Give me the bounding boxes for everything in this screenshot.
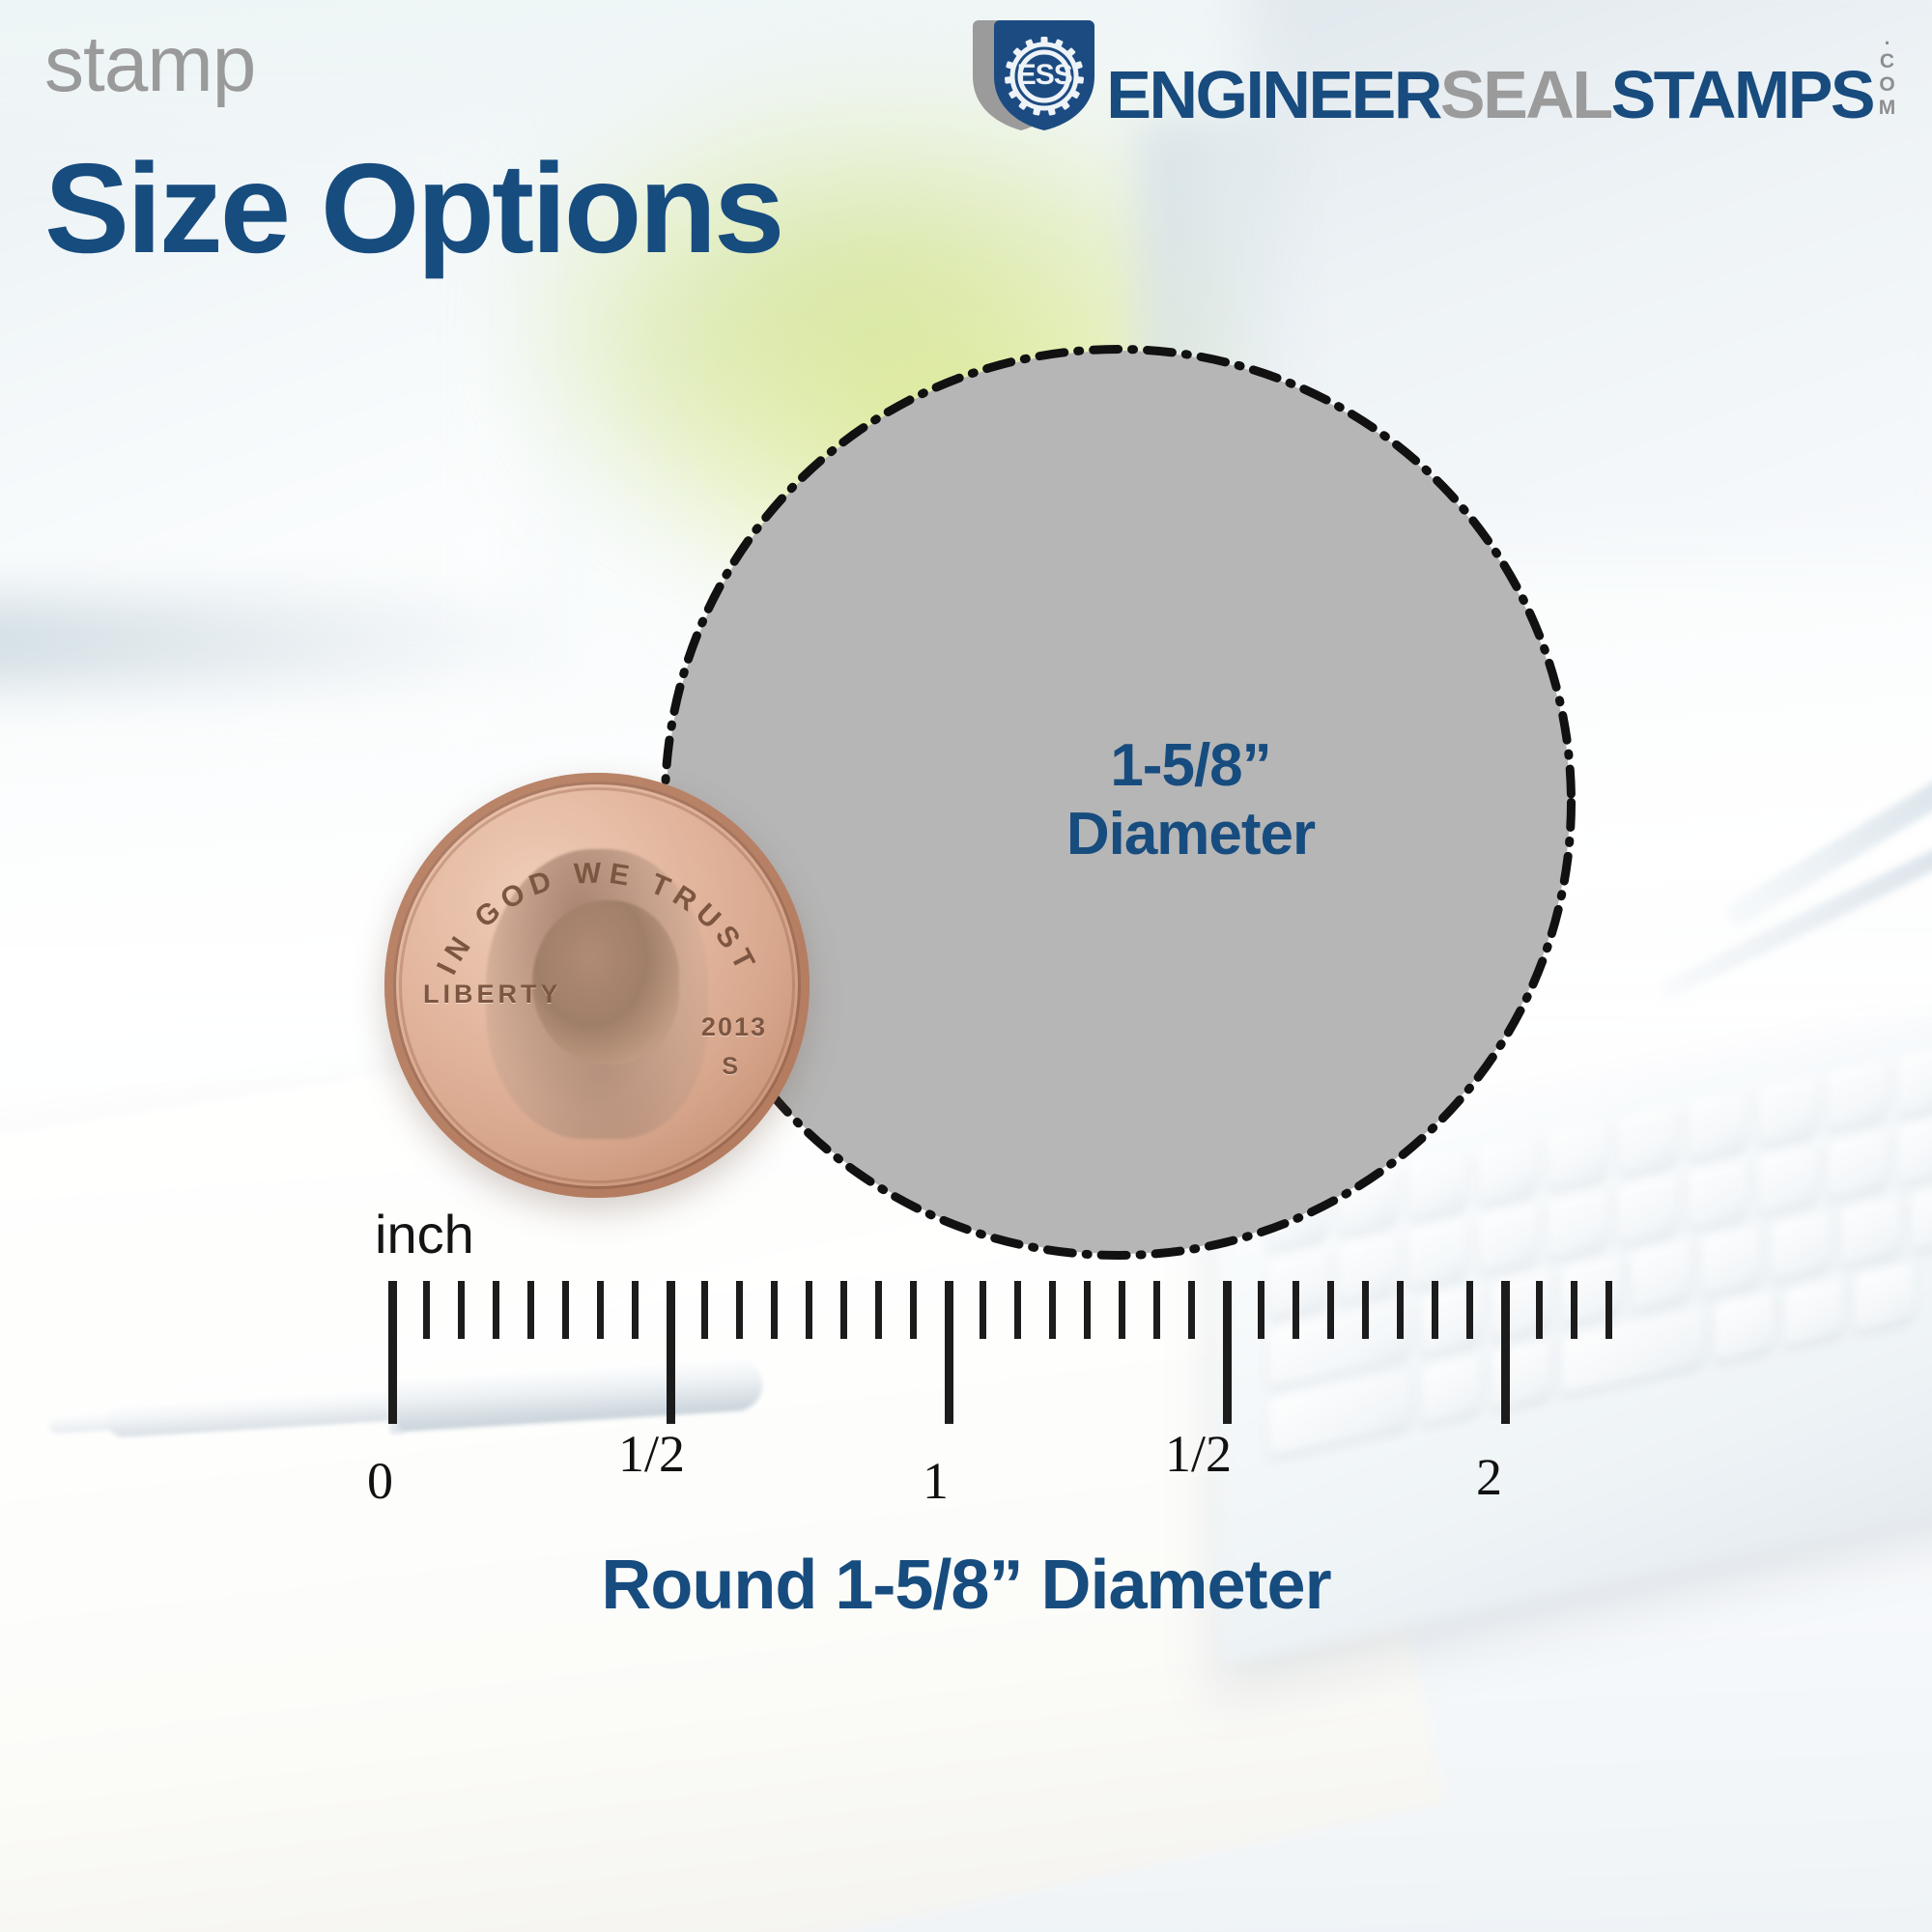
logo-word-seal: SEAL <box>1440 66 1611 124</box>
ruler-tick-minor <box>806 1281 812 1339</box>
ruler-tick-minor <box>1119 1281 1125 1339</box>
ruler-label-1: 1 <box>923 1451 949 1511</box>
ruler-tick-minor <box>527 1281 534 1339</box>
inch-ruler: 0 1/2 1 1/2 2 <box>0 1281 1932 1532</box>
ruler-tick-minor <box>1605 1281 1612 1339</box>
svg-text:IN GOD WE TRUST: IN GOD WE TRUST <box>431 857 763 980</box>
ruler-tick-minor <box>458 1281 465 1339</box>
ruler-tick-minor <box>493 1281 499 1339</box>
background-stylus-pen <box>1722 699 1932 930</box>
ruler-tick-minor <box>1188 1281 1195 1339</box>
ruler-tick-minor <box>875 1281 882 1339</box>
ruler-tick-major-1half <box>1223 1281 1232 1424</box>
ruler-tick-minor <box>701 1281 708 1339</box>
logo-badge-text: ESS <box>1013 59 1075 92</box>
ruler-unit-label: inch <box>375 1203 474 1265</box>
ruler-tick-minor <box>980 1281 986 1339</box>
header-eyebrow: stamp <box>44 25 255 104</box>
background-window-sill <box>0 599 560 686</box>
ruler-tick-major-half <box>667 1281 675 1424</box>
ruler-tick-minor <box>1049 1281 1056 1339</box>
ruler-label-1half: 1/2 <box>1165 1424 1232 1484</box>
ruler-tick-minor <box>1014 1281 1021 1339</box>
ruler-tick-minor <box>1432 1281 1438 1339</box>
page-header: stamp Size Options <box>0 0 1932 164</box>
ruler-tick-minor <box>1362 1281 1369 1339</box>
ruler-tick-minor <box>1571 1281 1577 1339</box>
ruler-tick-minor <box>1397 1281 1404 1339</box>
us-penny-coin: IN GOD WE TRUST LIBERTY 2013 S <box>384 773 810 1198</box>
ruler-label-0: 0 <box>367 1451 393 1511</box>
logo-wordmark: ENGINEER SEAL STAMPS .COM <box>1106 27 1895 124</box>
penny-year-text: 2013 <box>701 1012 767 1042</box>
ruler-tick-minor <box>771 1281 778 1339</box>
size-caption: Round 1-5/8” Diameter <box>0 1546 1932 1625</box>
ruler-tick-minor <box>910 1281 917 1339</box>
ruler-tick-major-2 <box>1501 1281 1510 1424</box>
ruler-tick-minor <box>840 1281 847 1339</box>
logo-word-com: .COM <box>1877 27 1895 120</box>
ruler-label-half: 1/2 <box>618 1424 685 1484</box>
ruler-tick-minor <box>1153 1281 1160 1339</box>
ruler-label-2: 2 <box>1476 1447 1502 1507</box>
penny-mint-mark: S <box>722 1053 738 1081</box>
ruler-tick-minor <box>423 1281 430 1339</box>
penny-liberty-text: LIBERTY <box>423 980 562 1009</box>
gear-shield-icon: ESS <box>969 16 1100 134</box>
ruler-tick-minor <box>1466 1281 1473 1339</box>
ruler-tick-minor <box>632 1281 639 1339</box>
ruler-tick-minor <box>1258 1281 1264 1339</box>
ruler-tick-minor <box>1327 1281 1334 1339</box>
ruler-tick-minor <box>736 1281 743 1339</box>
ruler-tick-major-0 <box>388 1281 397 1424</box>
ruler-tick-major-1 <box>945 1281 953 1424</box>
logo-word-stamps: STAMPS <box>1611 66 1874 124</box>
ruler-tick-minor <box>562 1281 569 1339</box>
size-circle-shape: Diameter <box>811 800 1570 868</box>
brand-logo[interactable]: ESS ENGINEER SEAL STAMPS .COM <box>969 17 1895 133</box>
size-circle-dimension: 1-5/8” <box>811 730 1570 799</box>
logo-word-engineer: ENGINEER <box>1106 66 1440 124</box>
page-title: Size Options <box>44 145 781 272</box>
ruler-tick-minor <box>1536 1281 1543 1339</box>
ruler-tick-minor <box>1293 1281 1299 1339</box>
ruler-tick-minor <box>597 1281 604 1339</box>
ruler-tick-minor <box>1084 1281 1091 1339</box>
